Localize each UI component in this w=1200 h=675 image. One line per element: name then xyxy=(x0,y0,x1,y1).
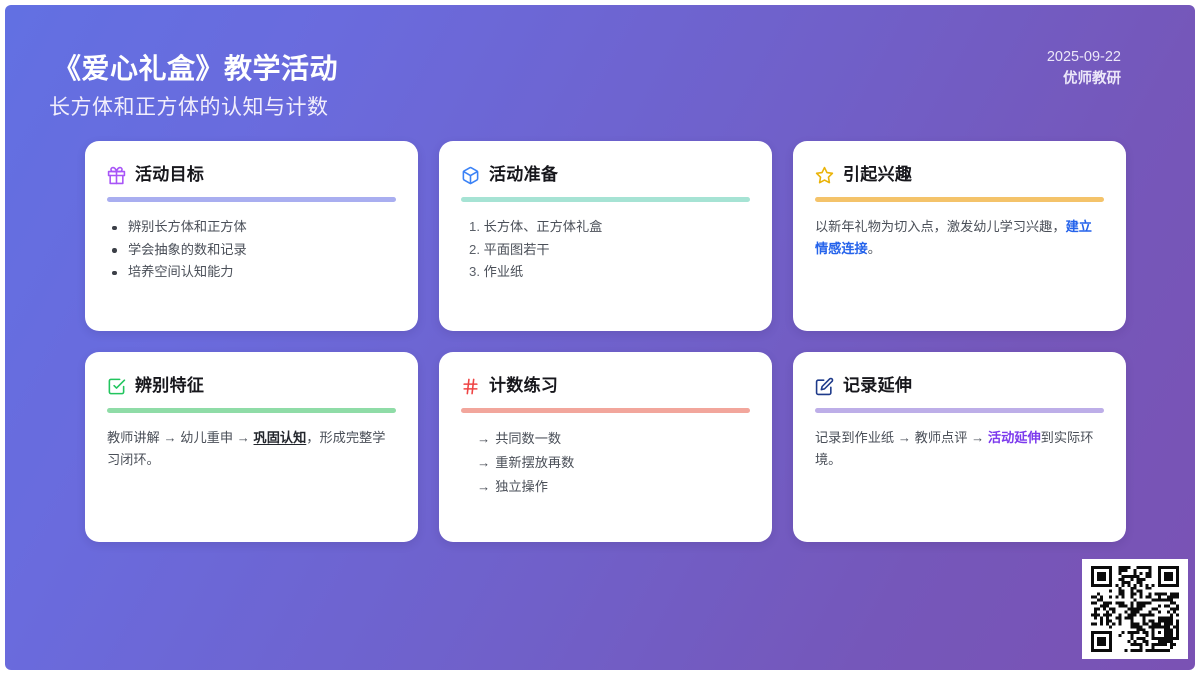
card-title: 辨别特征 xyxy=(135,375,204,397)
list-item: →重新摆放再数 xyxy=(477,451,750,475)
hash-icon xyxy=(461,377,480,396)
list-item: →共同数一数 xyxy=(477,427,750,451)
numbered-list: 1. 长方体、正方体礼盒2. 平面图若干3. 作业纸 xyxy=(461,216,750,284)
card-title: 记录延伸 xyxy=(843,375,912,397)
card-accent-rule xyxy=(107,197,396,202)
paragraph: 教师讲解 → 幼儿重申 → 巩固认知，形成完整学习闭环。 xyxy=(107,427,396,471)
card-activity-preparation[interactable]: 活动准备1. 长方体、正方体礼盒2. 平面图若干3. 作业纸 xyxy=(439,141,772,331)
card-spark-interest[interactable]: 引起兴趣以新年礼物为切入点，激发幼儿学习兴趣，建立情感连接。 xyxy=(793,141,1126,331)
list-item-label: 平面图若干 xyxy=(484,242,550,257)
arrow-right-icon: → xyxy=(477,479,490,494)
list-item: 1. 长方体、正方体礼盒 xyxy=(469,216,750,239)
card-accent-rule xyxy=(461,197,750,202)
text-segment: 以新年礼物为切入点，激发幼儿学习兴趣， xyxy=(815,219,1066,234)
card-accent-rule xyxy=(107,408,396,413)
list-item: 培养空间认知能力 xyxy=(107,261,396,284)
card-title: 计数练习 xyxy=(489,375,558,397)
slide-root: 《爱心礼盒》教学活动 长方体和正方体的认知与计数 2025-09-22 优师教研… xyxy=(5,5,1195,670)
arrow-right-icon: → xyxy=(477,431,490,446)
header-meta: 2025-09-22 优师教研 xyxy=(1047,46,1121,90)
text-segment: 记录到作业纸 → 教师点评 → xyxy=(815,430,988,445)
card-title: 活动准备 xyxy=(489,164,558,186)
paragraph: 以新年礼物为切入点，激发幼儿学习兴趣，建立情感连接。 xyxy=(815,216,1104,260)
check-square-icon xyxy=(107,377,126,396)
cube-icon xyxy=(461,166,480,185)
list-item: 辨别长方体和正方体 xyxy=(107,216,396,239)
list-item: →独立操作 xyxy=(477,475,750,499)
card-header: 记录延伸 xyxy=(815,373,1104,399)
card-accent-rule xyxy=(461,408,750,413)
card-header: 活动准备 xyxy=(461,162,750,188)
list-item-label: 重新摆放再数 xyxy=(495,455,574,470)
card-counting-practice[interactable]: 计数练习→共同数一数→重新摆放再数→独立操作 xyxy=(439,352,772,542)
highlight-text: 活动延伸 xyxy=(988,430,1041,445)
qr-code-image xyxy=(1091,566,1179,652)
page-title: 《爱心礼盒》教学活动 xyxy=(53,47,338,87)
paragraph: 记录到作业纸 → 教师点评 → 活动延伸到实际环境。 xyxy=(815,427,1104,471)
list-item-label: 独立操作 xyxy=(495,479,548,494)
highlight-text: 巩固认知 xyxy=(254,430,307,445)
slide-date: 2025-09-22 xyxy=(1047,46,1121,68)
card-body: 1. 长方体、正方体礼盒2. 平面图若干3. 作业纸 xyxy=(461,216,750,284)
edit-square-icon xyxy=(815,377,834,396)
list-item-number: 3. xyxy=(469,264,484,279)
text-segment: 教师讲解 → 幼儿重申 → xyxy=(107,430,254,445)
card-header: 活动目标 xyxy=(107,162,396,188)
list-item-number: 1. xyxy=(469,219,484,234)
card-grid: 活动目标辨别长方体和正方体学会抽象的数和记录培养空间认知能力活动准备1. 长方体… xyxy=(85,141,1123,543)
card-body: 记录到作业纸 → 教师点评 → 活动延伸到实际环境。 xyxy=(815,427,1104,471)
star-icon xyxy=(815,166,834,185)
qr-code[interactable] xyxy=(1082,559,1188,659)
gift-icon xyxy=(107,166,126,185)
list-item: 2. 平面图若干 xyxy=(469,239,750,262)
card-title: 活动目标 xyxy=(135,164,204,186)
card-title: 引起兴趣 xyxy=(843,164,912,186)
list-item-number: 2. xyxy=(469,242,484,257)
text-segment: 。 xyxy=(868,241,881,256)
arrow-list: →共同数一数→重新摆放再数→独立操作 xyxy=(461,427,750,499)
card-header: 引起兴趣 xyxy=(815,162,1104,188)
list-item: 3. 作业纸 xyxy=(469,261,750,284)
card-body: 以新年礼物为切入点，激发幼儿学习兴趣，建立情感连接。 xyxy=(815,216,1104,260)
arrow-right-icon: → xyxy=(477,455,490,470)
card-header: 辨别特征 xyxy=(107,373,396,399)
card-body: 教师讲解 → 幼儿重申 → 巩固认知，形成完整学习闭环。 xyxy=(107,427,396,471)
list-item-label: 长方体、正方体礼盒 xyxy=(484,219,603,234)
card-body: →共同数一数→重新摆放再数→独立操作 xyxy=(461,427,750,499)
card-accent-rule xyxy=(815,197,1104,202)
card-body: 辨别长方体和正方体学会抽象的数和记录培养空间认知能力 xyxy=(107,216,396,284)
card-header: 计数练习 xyxy=(461,373,750,399)
list-item-label: 作业纸 xyxy=(484,264,524,279)
slide-org: 优师教研 xyxy=(1047,68,1121,90)
list-item: 学会抽象的数和记录 xyxy=(107,239,396,262)
card-accent-rule xyxy=(815,408,1104,413)
slide-header: 《爱心礼盒》教学活动 长方体和正方体的认知与计数 2025-09-22 优师教研 xyxy=(5,5,1195,141)
page-subtitle: 长方体和正方体的认知与计数 xyxy=(49,91,329,121)
list-item-label: 共同数一数 xyxy=(495,431,561,446)
card-record-extension[interactable]: 记录延伸记录到作业纸 → 教师点评 → 活动延伸到实际环境。 xyxy=(793,352,1126,542)
card-identify-features[interactable]: 辨别特征教师讲解 → 幼儿重申 → 巩固认知，形成完整学习闭环。 xyxy=(85,352,418,542)
card-activity-goals[interactable]: 活动目标辨别长方体和正方体学会抽象的数和记录培养空间认知能力 xyxy=(85,141,418,331)
bullet-list: 辨别长方体和正方体学会抽象的数和记录培养空间认知能力 xyxy=(107,216,396,284)
